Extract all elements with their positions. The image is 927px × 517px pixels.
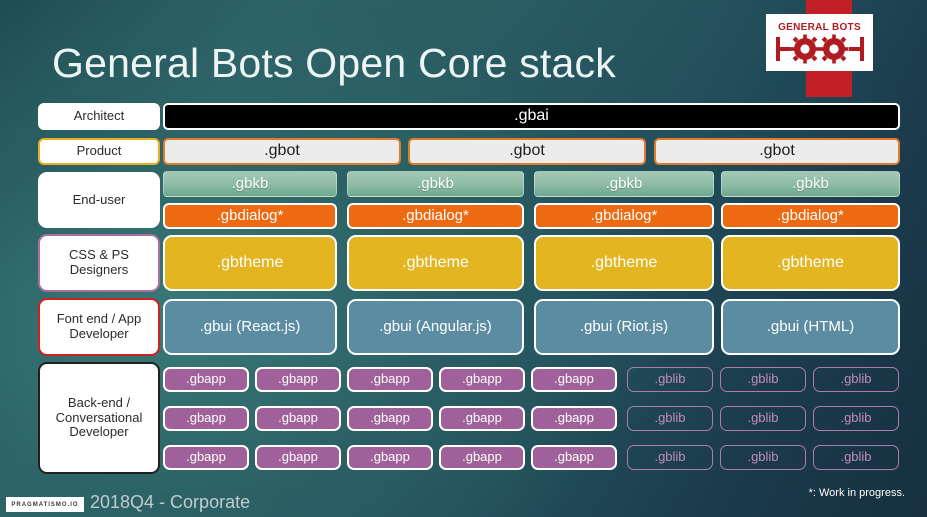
layer-label: .gblib [840, 450, 871, 465]
layer-label: .gbapp [370, 411, 410, 426]
layer-label: .gbdialog* [777, 207, 844, 224]
layer-gbapp: .gbapp [255, 406, 341, 431]
layer-gblib: .gblib [813, 445, 899, 470]
layer-label: .gblib [840, 411, 871, 426]
two-gears-icon [774, 34, 866, 64]
layer-label: .gblib [654, 372, 685, 387]
layer-label: .gbdialog* [402, 207, 469, 224]
layer-gbdialog-2: .gbdialog* [347, 203, 524, 229]
layer-gbtheme-3: .gbtheme [534, 235, 714, 291]
layer-label: .gbapp [186, 372, 226, 387]
layer-gbai: .gbai [163, 103, 900, 130]
layer-label: .gblib [747, 411, 778, 426]
layer-gbdialog-4: .gbdialog* [721, 203, 900, 229]
layer-gbapp: .gbapp [163, 367, 249, 392]
footer-caption: 2018Q4 - Corporate [90, 492, 250, 513]
role-label: Product [77, 144, 122, 159]
work-in-progress-note: *: Work in progress. [809, 487, 905, 499]
layer-label: .gbdialog* [591, 207, 658, 224]
role-label: End-user [73, 193, 126, 208]
layer-label: .gbui (Angular.js) [379, 318, 492, 335]
pragmatismo-logo: PRAGMATISMO.IO [6, 497, 84, 512]
layer-gbapp: .gbapp [531, 445, 617, 470]
layer-label: .gbui (Riot.js) [580, 318, 668, 335]
layer-gbapp: .gbapp [531, 367, 617, 392]
role-label: CSS & PS Designers [44, 248, 154, 278]
layer-label: .gblib [654, 450, 685, 465]
layer-gbui-riot: .gbui (Riot.js) [534, 299, 714, 355]
layer-gblib: .gblib [627, 406, 713, 431]
page-title: General Bots Open Core stack [52, 32, 732, 94]
layer-label: .gbapp [278, 411, 318, 426]
layer-label: .gbui (React.js) [200, 318, 301, 335]
layer-gbapp: .gbapp [439, 406, 525, 431]
layer-gbot-3: .gbot [654, 138, 900, 165]
general-bots-logo: GENERAL BOTS [766, 14, 873, 71]
layer-gblib: .gblib [627, 445, 713, 470]
layer-gbapp: .gbapp [255, 367, 341, 392]
layer-gbapp: .gbapp [163, 445, 249, 470]
role-product: Product [38, 138, 160, 165]
layer-gbapp: .gbapp [439, 367, 525, 392]
layer-label: .gbtheme [402, 254, 469, 272]
layer-gbui-angular: .gbui (Angular.js) [347, 299, 524, 355]
layer-gbot-1: .gbot [163, 138, 401, 165]
layer-label: .gbui (HTML) [767, 318, 855, 335]
layer-label: .gbkb [232, 175, 269, 192]
layer-gbui-react: .gbui (React.js) [163, 299, 337, 355]
layer-gbapp: .gbapp [347, 445, 433, 470]
layer-label: .gbapp [186, 411, 226, 426]
layer-gbapp: .gbapp [255, 445, 341, 470]
layer-label: .gbapp [186, 450, 226, 465]
layer-label: .gbtheme [591, 254, 658, 272]
layer-gbkb-4: .gbkb [721, 171, 900, 197]
layer-label: .gbkb [606, 175, 643, 192]
layer-label: .gbkb [792, 175, 829, 192]
layer-gblib: .gblib [720, 445, 806, 470]
layer-gbkb-2: .gbkb [347, 171, 524, 197]
layer-gbkb-3: .gbkb [534, 171, 714, 197]
layer-label: .gbtheme [777, 254, 844, 272]
layer-gblib: .gblib [627, 367, 713, 392]
role-front-end-app-developer: Font end / App Developer [38, 298, 160, 356]
layer-label: .gbot [759, 142, 795, 160]
layer-label: .gblib [747, 372, 778, 387]
role-architect: Architect [38, 103, 160, 130]
layer-label: .gbtheme [217, 254, 284, 272]
slide-canvas: General Bots Open Core stack GENERAL BOT… [0, 0, 927, 517]
title-bar: General Bots Open Core stack [52, 32, 732, 94]
layer-label: .gbdialog* [217, 207, 284, 224]
role-back-end-conversational-developer: Back-end / Conversational Developer [38, 362, 160, 474]
layer-gbapp: .gbapp [439, 445, 525, 470]
layer-label: .gbapp [554, 411, 594, 426]
layer-label: .gbapp [554, 372, 594, 387]
layer-label: .gbkb [417, 175, 454, 192]
layer-gblib: .gblib [720, 367, 806, 392]
layer-label: .gblib [747, 450, 778, 465]
layer-gbtheme-1: .gbtheme [163, 235, 337, 291]
layer-gbapp: .gbapp [163, 406, 249, 431]
layer-label: .gblib [654, 411, 685, 426]
layer-label: .gbapp [462, 411, 502, 426]
layer-label: .gbapp [278, 450, 318, 465]
role-label: Back-end / Conversational Developer [44, 396, 154, 441]
layer-gblib: .gblib [813, 406, 899, 431]
role-end-user: End-user [38, 172, 160, 228]
layer-label: .gbapp [462, 450, 502, 465]
layer-gblib: .gblib [720, 406, 806, 431]
layer-label: .gbapp [370, 450, 410, 465]
layer-label: .gbapp [370, 372, 410, 387]
layer-gblib: .gblib [813, 367, 899, 392]
layer-label: .gbai [514, 107, 549, 125]
layer-gbui-html: .gbui (HTML) [721, 299, 900, 355]
layer-label: .gblib [840, 372, 871, 387]
layer-gbapp: .gbapp [531, 406, 617, 431]
layer-label: .gbot [509, 142, 545, 160]
layer-gbot-2: .gbot [408, 138, 646, 165]
role-label: Architect [74, 109, 125, 124]
layer-label: .gbapp [278, 372, 318, 387]
logo-wordmark: GENERAL BOTS [778, 22, 861, 33]
layer-gbdialog-3: .gbdialog* [534, 203, 714, 229]
layer-gbtheme-4: .gbtheme [721, 235, 900, 291]
pragmatismo-wordmark: PRAGMATISMO.IO [11, 502, 78, 508]
role-label: Font end / App Developer [44, 312, 154, 342]
layer-gbapp: .gbapp [347, 367, 433, 392]
layer-gbtheme-2: .gbtheme [347, 235, 524, 291]
layer-label: .gbapp [554, 450, 594, 465]
layer-label: .gbot [264, 142, 300, 160]
role-css-ps-designers: CSS & PS Designers [38, 234, 160, 292]
layer-gbdialog-1: .gbdialog* [163, 203, 337, 229]
layer-gbapp: .gbapp [347, 406, 433, 431]
layer-gbkb-1: .gbkb [163, 171, 337, 197]
layer-label: .gbapp [462, 372, 502, 387]
